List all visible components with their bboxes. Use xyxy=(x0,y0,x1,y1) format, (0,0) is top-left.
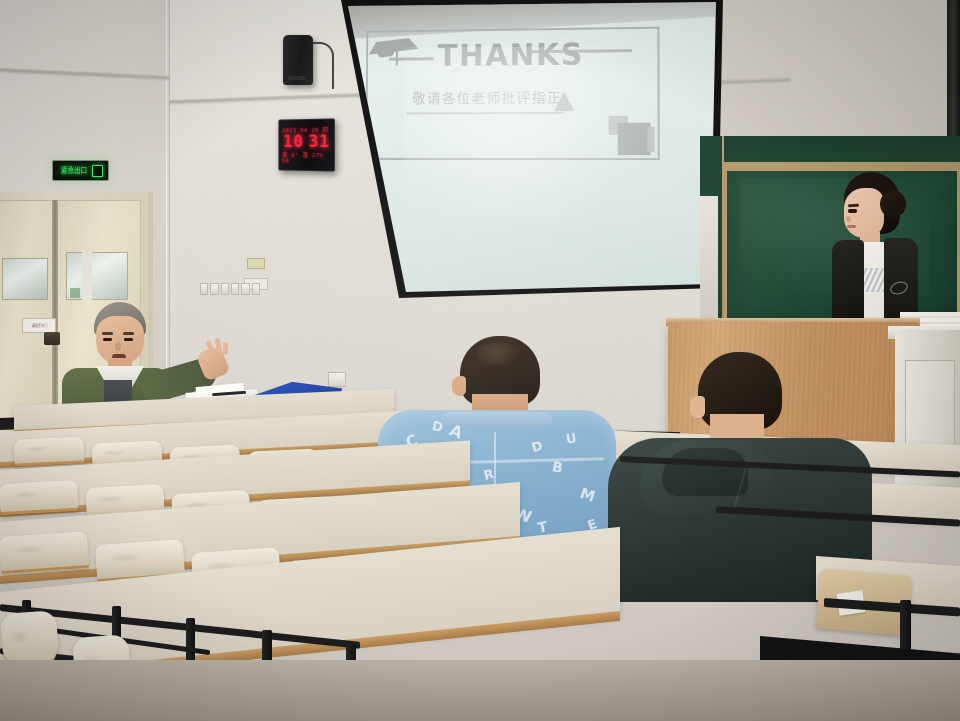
denim-letter: D xyxy=(530,439,545,456)
light-switch[interactable] xyxy=(200,283,208,295)
denim-letter: A xyxy=(447,420,466,442)
door-notice-sign: 请随手关门 xyxy=(22,318,56,333)
female-presenter xyxy=(820,172,920,332)
clock-hour: 10 xyxy=(283,134,303,151)
light-switch[interactable] xyxy=(241,283,249,295)
presenter-hair-bun xyxy=(880,190,906,218)
professor-eyebrow-left xyxy=(102,332,113,335)
hoodie-student-ear xyxy=(690,396,705,418)
clock-bottom-line: 温 8° 湿 27% 50 xyxy=(282,150,331,165)
professor-nose xyxy=(115,342,121,351)
exit-sign-label: 紧急出口 xyxy=(61,165,87,176)
seat-back[interactable] xyxy=(13,436,84,466)
professor-eyebrow-right xyxy=(123,332,134,335)
door-window-left xyxy=(2,258,48,300)
denim-letter: R xyxy=(482,467,495,484)
wall-label-yellow xyxy=(247,258,265,269)
presenter-face xyxy=(844,188,884,238)
light-switch[interactable] xyxy=(210,283,218,295)
door-notice-text: 请随手关门 xyxy=(31,323,47,329)
denim-letter: M xyxy=(578,484,598,506)
clock-time: 10 31 xyxy=(282,133,331,150)
blackboard-top-strip xyxy=(724,136,960,162)
running-man-exit-icon xyxy=(92,165,103,177)
clock-minute: 31 xyxy=(308,133,329,150)
professor-eye-right xyxy=(124,338,133,341)
classroom-photo: 2023 04 20 四 10 31 温 8° 湿 27% 50 紧急出口 请随… xyxy=(0,0,960,721)
speaker-cable xyxy=(310,42,334,89)
light-switch[interactable] xyxy=(231,283,239,295)
floor xyxy=(0,660,960,721)
led-clock-display: 2023 04 20 四 10 31 温 8° 湿 27% 50 xyxy=(278,118,335,171)
denim-letter: U xyxy=(565,431,578,448)
wall-speaker xyxy=(283,35,313,85)
hoodie-hood-inner xyxy=(662,448,748,496)
presenter-eye xyxy=(848,209,857,213)
whiteboard-edge xyxy=(700,196,718,321)
light-switch[interactable] xyxy=(252,283,260,295)
light-switch[interactable] xyxy=(221,283,229,295)
wall-power-outlet[interactable] xyxy=(328,372,346,387)
light-switch-panel[interactable] xyxy=(200,283,260,295)
professor-finger xyxy=(223,342,229,355)
door-window-mullion xyxy=(82,252,92,300)
emergency-exit-sign: 紧急出口 xyxy=(52,160,109,181)
denim-letter: B xyxy=(551,459,564,477)
denim-letter: D xyxy=(431,419,445,436)
clock-date-line: 2023 04 20 四 xyxy=(282,125,331,134)
seat-back[interactable] xyxy=(0,531,89,574)
screen-light-glow xyxy=(404,47,662,234)
presenter-nose xyxy=(846,216,851,222)
door-window-reflection xyxy=(70,288,80,298)
professor-eye-left xyxy=(103,338,112,341)
seat-back[interactable] xyxy=(0,480,79,515)
presenter-lips xyxy=(847,225,856,228)
